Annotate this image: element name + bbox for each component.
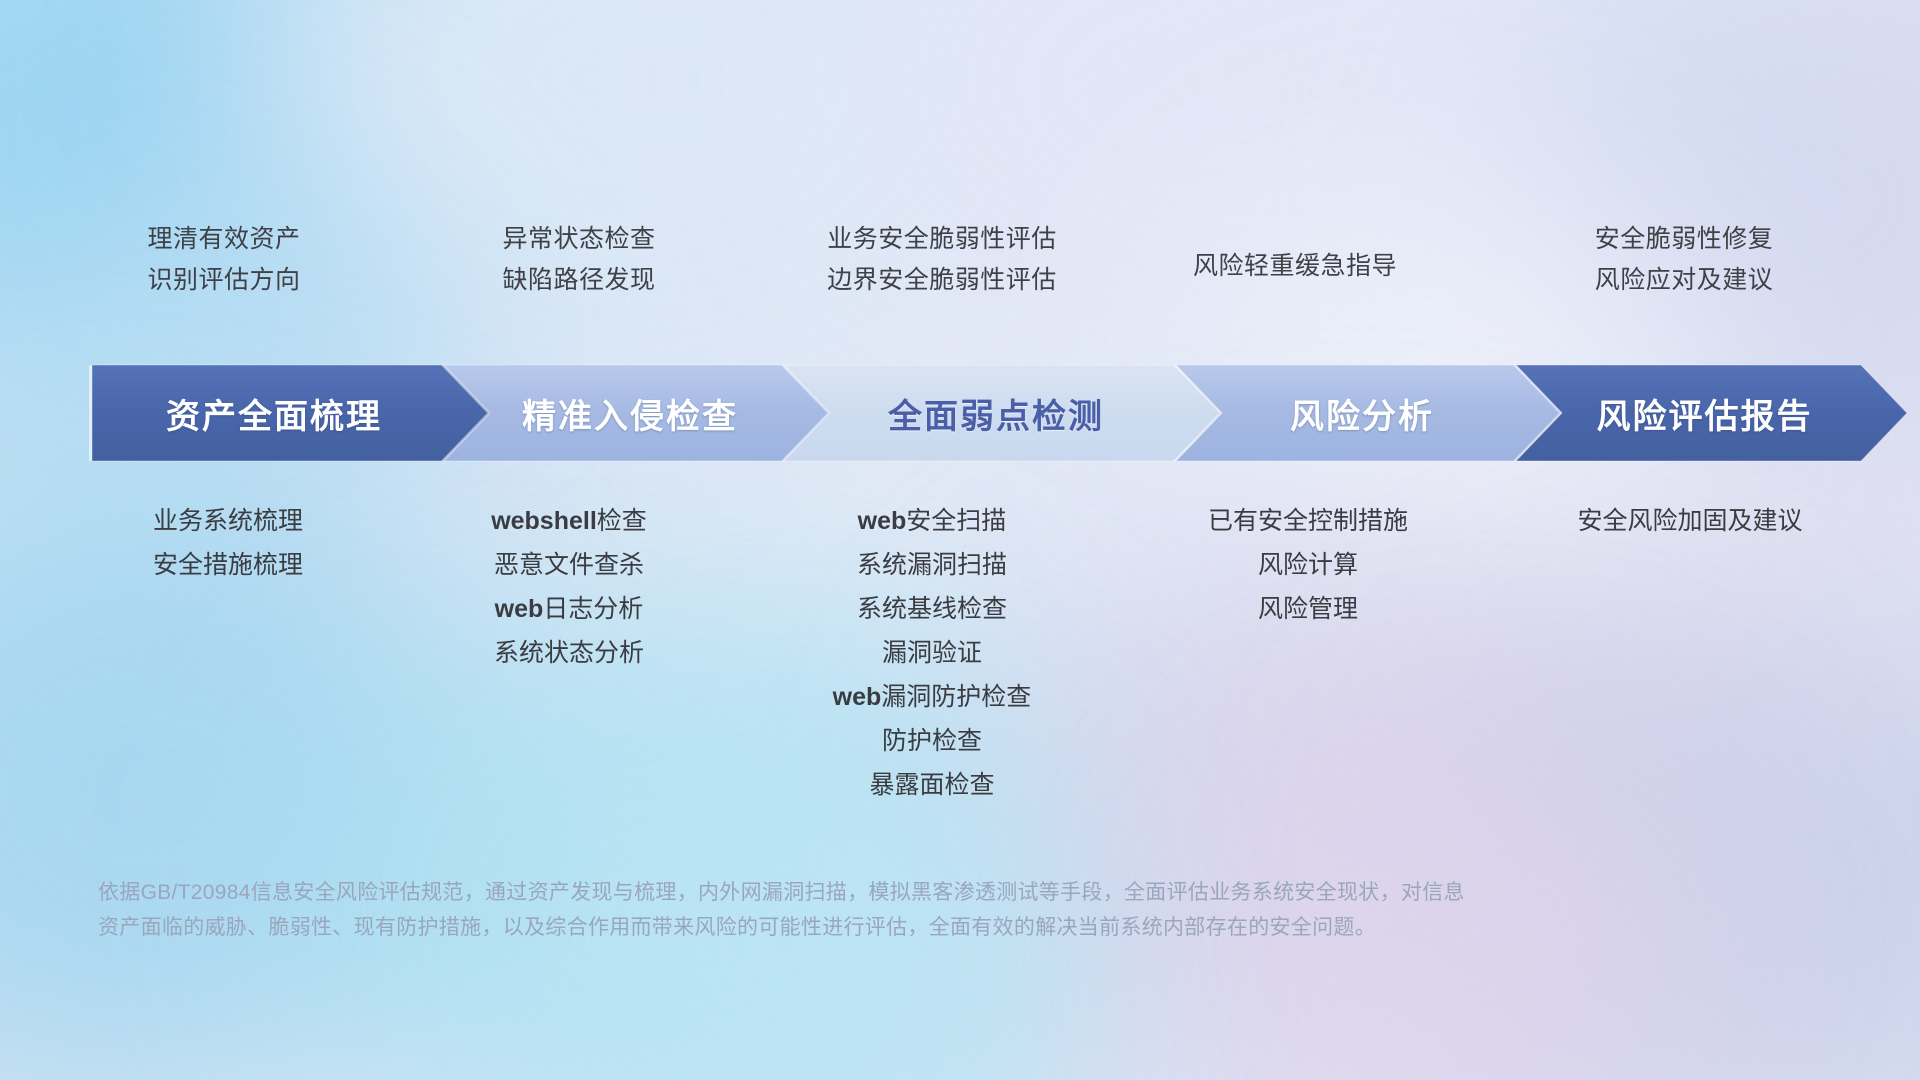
top-captions-weakness-detection: 业务安全脆弱性评估边界安全脆弱性评估 [777, 224, 1107, 295]
list-item: webshell检查 [491, 506, 647, 536]
list-item: 系统漏洞扫描 [857, 550, 1007, 580]
process-step-label: 全面弱点检测 [888, 389, 1104, 438]
caption-text: 风险应对及建议 [1595, 265, 1774, 296]
caption-text: 边界安全脆弱性评估 [827, 265, 1057, 296]
list-item: 已有安全控制措施 [1208, 506, 1408, 536]
list-item: 防护检查 [882, 726, 982, 756]
caption-text: 安全脆弱性修复 [1595, 224, 1774, 255]
footnote-line-1: 依据GB/T20984信息安全风险评估规范，通过资产发现与梳理，内外网漏洞扫描，… [98, 876, 1618, 911]
list-item: 风险计算 [1258, 550, 1358, 580]
top-captions-risk-analysis: 风险轻重缓急指导 [1130, 224, 1460, 282]
caption-text: 缺陷路径发现 [502, 265, 655, 296]
process-step-label: 风险分析 [1290, 389, 1434, 438]
list-item: 系统基线检查 [857, 594, 1007, 624]
process-step-weakness-detection[interactable]: 全面弱点检测 [784, 365, 1176, 461]
list-item: 恶意文件查杀 [494, 550, 644, 580]
process-step-asset-inventory[interactable]: 资产全面梳理 [92, 365, 444, 461]
top-captions-intrusion-check: 异常状态检查缺陷路径发现 [434, 224, 724, 295]
bottom-items-intrusion-check: webshell检查恶意文件查杀web日志分析系统状态分析 [369, 506, 769, 668]
bottom-items-weakness-detection: web安全扫描系统漏洞扫描系统基线检查漏洞验证web漏洞防护检查防护检查暴露面检… [732, 506, 1132, 800]
process-step-risk-report[interactable]: 风险评估报告 [1516, 365, 1861, 461]
process-step-label: 精准入侵检查 [522, 389, 738, 438]
list-item: 暴露面检查 [869, 770, 994, 800]
footnote-line-2: 资产面临的威胁、脆弱性、现有防护措施，以及综合作用而带来风险的可能性进行评估，全… [98, 911, 1618, 946]
list-item: 安全措施梳理 [153, 550, 303, 580]
list-item: 业务系统梳理 [153, 506, 303, 536]
list-item: web安全扫描 [858, 506, 1007, 536]
process-step-intrusion-check[interactable]: 精准入侵检查 [444, 365, 784, 461]
bottom-items-asset-inventory: 业务系统梳理安全措施梳理 [28, 506, 428, 580]
top-caption-row: 理清有效资产识别评估方向异常状态检查缺陷路径发现业务安全脆弱性评估边界安全脆弱性… [0, 224, 1920, 334]
caption-text: 异常状态检查 [502, 224, 655, 255]
process-chevron-band: 资产全面梳理 精准入侵检查 [0, 365, 1920, 461]
list-item: 漏洞验证 [882, 638, 982, 668]
top-captions-asset-inventory: 理清有效资产识别评估方向 [79, 224, 369, 295]
list-item: 风险管理 [1258, 594, 1358, 624]
process-step-risk-analysis[interactable]: 风险分析 [1176, 365, 1516, 461]
process-step-label: 风险评估报告 [1597, 389, 1813, 438]
list-item: web漏洞防护检查 [833, 682, 1032, 712]
list-item: 安全风险加固及建议 [1577, 506, 1802, 536]
list-item: web日志分析 [495, 594, 644, 624]
caption-text: 理清有效资产 [147, 224, 300, 255]
bottom-items-risk-analysis: 已有安全控制措施风险计算风险管理 [1108, 506, 1508, 624]
bottom-items-risk-report: 安全风险加固及建议 [1490, 506, 1890, 536]
process-step-label: 资产全面梳理 [166, 389, 382, 438]
list-item: 系统状态分析 [494, 638, 644, 668]
top-captions-risk-report: 安全脆弱性修复风险应对及建议 [1524, 224, 1844, 295]
caption-text: 识别评估方向 [147, 265, 300, 296]
caption-text: 业务安全脆弱性评估 [827, 224, 1057, 255]
caption-text: 风险轻重缓急指导 [1193, 251, 1397, 282]
footnote: 依据GB/T20984信息安全风险评估规范，通过资产发现与梳理，内外网漏洞扫描，… [98, 876, 1618, 945]
